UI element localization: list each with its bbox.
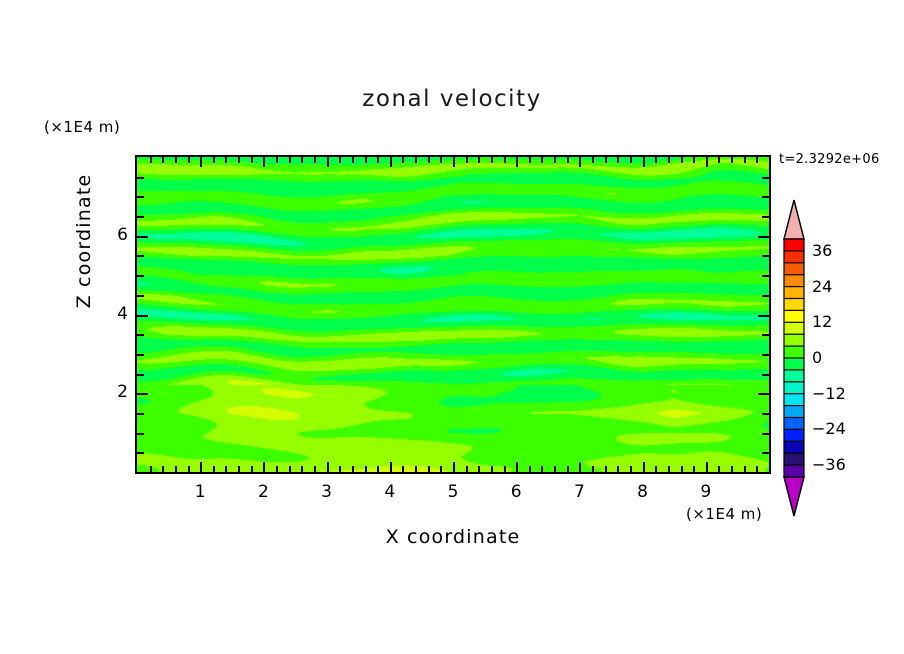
- x-minor-tick-top: [592, 157, 594, 163]
- x-minor-tick-top: [681, 157, 683, 163]
- x-minor-tick: [301, 466, 303, 472]
- x-major-tick: [200, 462, 202, 472]
- colorbar-band: [784, 275, 804, 287]
- x-minor-tick: [681, 466, 683, 472]
- y-minor-tick: [137, 413, 144, 415]
- x-minor-tick-top: [440, 157, 442, 163]
- colorbar-band: [784, 406, 804, 418]
- x-minor-tick: [314, 466, 316, 472]
- x-major-tick-top: [327, 157, 329, 167]
- colorbar-band: [784, 239, 804, 251]
- colorbar-band: [784, 418, 804, 430]
- colorbar-tick-label: 12: [812, 312, 832, 331]
- x-major-tick: [516, 462, 518, 472]
- y-tick-label: 6: [98, 225, 128, 245]
- x-minor-tick: [225, 466, 227, 472]
- x-minor-tick: [756, 466, 758, 472]
- x-tick-label: 2: [248, 482, 278, 502]
- x-minor-tick-top: [617, 157, 619, 163]
- x-tick-label: 9: [691, 482, 721, 502]
- x-minor-tick: [605, 466, 607, 472]
- x-minor-tick: [289, 466, 291, 472]
- x-major-tick: [390, 462, 392, 472]
- y-minor-tick-right: [762, 196, 769, 198]
- x-minor-tick: [150, 466, 152, 472]
- x-major-tick-top: [643, 157, 645, 167]
- x-minor-tick: [428, 466, 430, 472]
- x-major-tick-top: [263, 157, 265, 167]
- x-minor-tick-top: [188, 157, 190, 163]
- x-tick-label: 7: [564, 482, 594, 502]
- x-major-tick-top: [706, 157, 708, 167]
- x-minor-tick: [630, 466, 632, 472]
- x-minor-tick: [440, 466, 442, 472]
- colorbar-tick-label: 24: [812, 277, 832, 296]
- colorbar-under-arrow: [784, 477, 804, 516]
- x-minor-tick-top: [162, 157, 164, 163]
- colorbar-tick-label: −36: [812, 455, 846, 474]
- x-minor-tick: [668, 466, 670, 472]
- y-minor-tick: [137, 275, 144, 277]
- x-minor-tick-top: [529, 157, 531, 163]
- y-minor-tick: [137, 177, 144, 179]
- x-minor-tick: [415, 466, 417, 472]
- y-minor-tick-right: [762, 177, 769, 179]
- colorbar-svg: [781, 199, 807, 517]
- y-minor-tick: [137, 295, 144, 297]
- colorbar-band: [784, 263, 804, 275]
- colorbar-band: [784, 310, 804, 322]
- y-axis-title: Z coordinate: [73, 131, 95, 351]
- x-tick-label: 8: [628, 482, 658, 502]
- x-minor-tick-top: [554, 157, 556, 163]
- x-minor-tick: [744, 466, 746, 472]
- x-minor-tick-top: [150, 157, 152, 163]
- y-minor-tick-right: [762, 255, 769, 257]
- colorbar-tick-label: −12: [812, 384, 846, 403]
- y-minor-tick: [137, 374, 144, 376]
- colorbar-band: [784, 394, 804, 406]
- x-minor-tick-top: [352, 157, 354, 163]
- x-minor-tick: [491, 466, 493, 472]
- x-minor-tick: [592, 466, 594, 472]
- x-minor-tick-top: [567, 157, 569, 163]
- x-minor-tick-top: [605, 157, 607, 163]
- x-minor-tick-top: [225, 157, 227, 163]
- x-minor-tick: [504, 466, 506, 472]
- x-minor-tick-top: [630, 157, 632, 163]
- x-minor-tick-top: [504, 157, 506, 163]
- x-major-tick: [579, 462, 581, 472]
- y-major-tick-right: [758, 315, 769, 317]
- x-major-tick: [643, 462, 645, 472]
- x-minor-tick: [188, 466, 190, 472]
- x-minor-tick-top: [251, 157, 253, 163]
- x-minor-tick: [567, 466, 569, 472]
- y-major-tick-right: [758, 236, 769, 238]
- x-tick-label: 3: [312, 482, 342, 502]
- page-title: zonal velocity: [0, 86, 904, 112]
- x-minor-tick-top: [377, 157, 379, 163]
- x-tick-label: 4: [375, 482, 405, 502]
- x-minor-tick: [402, 466, 404, 472]
- colorbar-band: [784, 370, 804, 382]
- x-minor-tick: [251, 466, 253, 472]
- x-minor-tick: [377, 466, 379, 472]
- y-major-tick: [137, 393, 148, 395]
- x-tick-label: 5: [438, 482, 468, 502]
- x-minor-tick: [731, 466, 733, 472]
- x-major-tick: [327, 462, 329, 472]
- x-minor-tick-top: [314, 157, 316, 163]
- x-major-tick-top: [390, 157, 392, 167]
- x-major-tick: [263, 462, 265, 472]
- y-minor-tick: [137, 433, 144, 435]
- x-minor-tick-top: [365, 157, 367, 163]
- x-minor-tick-top: [718, 157, 720, 163]
- colorbar-band: [784, 299, 804, 311]
- colorbar-band: [784, 346, 804, 358]
- y-major-tick: [137, 315, 148, 317]
- x-minor-tick-top: [402, 157, 404, 163]
- x-minor-tick: [529, 466, 531, 472]
- x-minor-tick-top: [756, 157, 758, 163]
- y-minor-tick-right: [762, 413, 769, 415]
- x-minor-tick: [352, 466, 354, 472]
- x-minor-tick-top: [478, 157, 480, 163]
- x-minor-tick: [276, 466, 278, 472]
- y-tick-label: 4: [98, 304, 128, 324]
- x-minor-tick: [554, 466, 556, 472]
- x-minor-tick-top: [175, 157, 177, 163]
- y-minor-tick-right: [762, 334, 769, 336]
- x-major-tick-top: [453, 157, 455, 167]
- y-tick-label: 2: [98, 382, 128, 402]
- time-annotation: t=2.3292e+06: [779, 152, 880, 167]
- x-minor-tick-top: [213, 157, 215, 163]
- x-minor-tick: [175, 466, 177, 472]
- x-minor-tick: [655, 466, 657, 472]
- x-major-tick-top: [200, 157, 202, 167]
- contour-field-canvas: [137, 157, 769, 472]
- y-minor-tick-right: [762, 452, 769, 454]
- x-minor-tick-top: [693, 157, 695, 163]
- y-minor-tick-right: [762, 374, 769, 376]
- x-minor-tick-top: [428, 157, 430, 163]
- x-minor-tick: [466, 466, 468, 472]
- colorbar-band: [784, 358, 804, 370]
- x-minor-tick-top: [289, 157, 291, 163]
- y-minor-tick-right: [762, 275, 769, 277]
- colorbar-band: [784, 251, 804, 263]
- y-minor-tick: [137, 452, 144, 454]
- colorbar-tick-label: −24: [812, 419, 846, 438]
- x-minor-tick-top: [238, 157, 240, 163]
- colorbar-over-arrow: [784, 200, 804, 239]
- y-minor-tick: [137, 334, 144, 336]
- y-minor-tick-right: [762, 216, 769, 218]
- y-minor-tick-right: [762, 295, 769, 297]
- colorbar: [781, 199, 807, 517]
- x-minor-tick: [213, 466, 215, 472]
- colorbar-band: [784, 429, 804, 441]
- x-minor-tick: [339, 466, 341, 472]
- x-minor-tick: [365, 466, 367, 472]
- x-minor-tick: [162, 466, 164, 472]
- colorbar-band: [784, 453, 804, 465]
- x-minor-tick-top: [339, 157, 341, 163]
- x-minor-tick-top: [415, 157, 417, 163]
- x-major-tick-top: [516, 157, 518, 167]
- x-minor-tick: [478, 466, 480, 472]
- x-minor-tick: [718, 466, 720, 472]
- x-minor-tick-top: [301, 157, 303, 163]
- x-minor-tick: [617, 466, 619, 472]
- colorbar-band: [784, 287, 804, 299]
- x-tick-label: 1: [185, 482, 215, 502]
- colorbar-tick-label: 0: [812, 348, 822, 367]
- x-major-tick-top: [579, 157, 581, 167]
- x-minor-tick: [541, 466, 543, 472]
- x-minor-tick-top: [731, 157, 733, 163]
- x-minor-tick-top: [491, 157, 493, 163]
- contour-plot-area: [135, 155, 771, 474]
- y-minor-tick: [137, 354, 144, 356]
- x-axis-title: X coordinate: [135, 526, 771, 548]
- x-axis-unit-label: (×1E4 m): [686, 505, 762, 523]
- y-minor-tick: [137, 216, 144, 218]
- x-minor-tick-top: [466, 157, 468, 163]
- x-major-tick: [706, 462, 708, 472]
- y-minor-tick-right: [762, 433, 769, 435]
- colorbar-band: [784, 441, 804, 453]
- y-major-tick: [137, 236, 148, 238]
- x-minor-tick-top: [541, 157, 543, 163]
- x-tick-label: 6: [501, 482, 531, 502]
- x-minor-tick-top: [276, 157, 278, 163]
- y-minor-tick-right: [762, 354, 769, 356]
- x-minor-tick: [238, 466, 240, 472]
- colorbar-tick-label: 36: [812, 241, 832, 260]
- x-minor-tick: [693, 466, 695, 472]
- colorbar-band: [784, 465, 804, 477]
- x-minor-tick-top: [668, 157, 670, 163]
- y-major-tick-right: [758, 393, 769, 395]
- y-minor-tick: [137, 196, 144, 198]
- x-minor-tick-top: [655, 157, 657, 163]
- x-minor-tick-top: [744, 157, 746, 163]
- x-major-tick: [453, 462, 455, 472]
- colorbar-band: [784, 322, 804, 334]
- colorbar-band: [784, 382, 804, 394]
- y-minor-tick: [137, 255, 144, 257]
- colorbar-band: [784, 334, 804, 346]
